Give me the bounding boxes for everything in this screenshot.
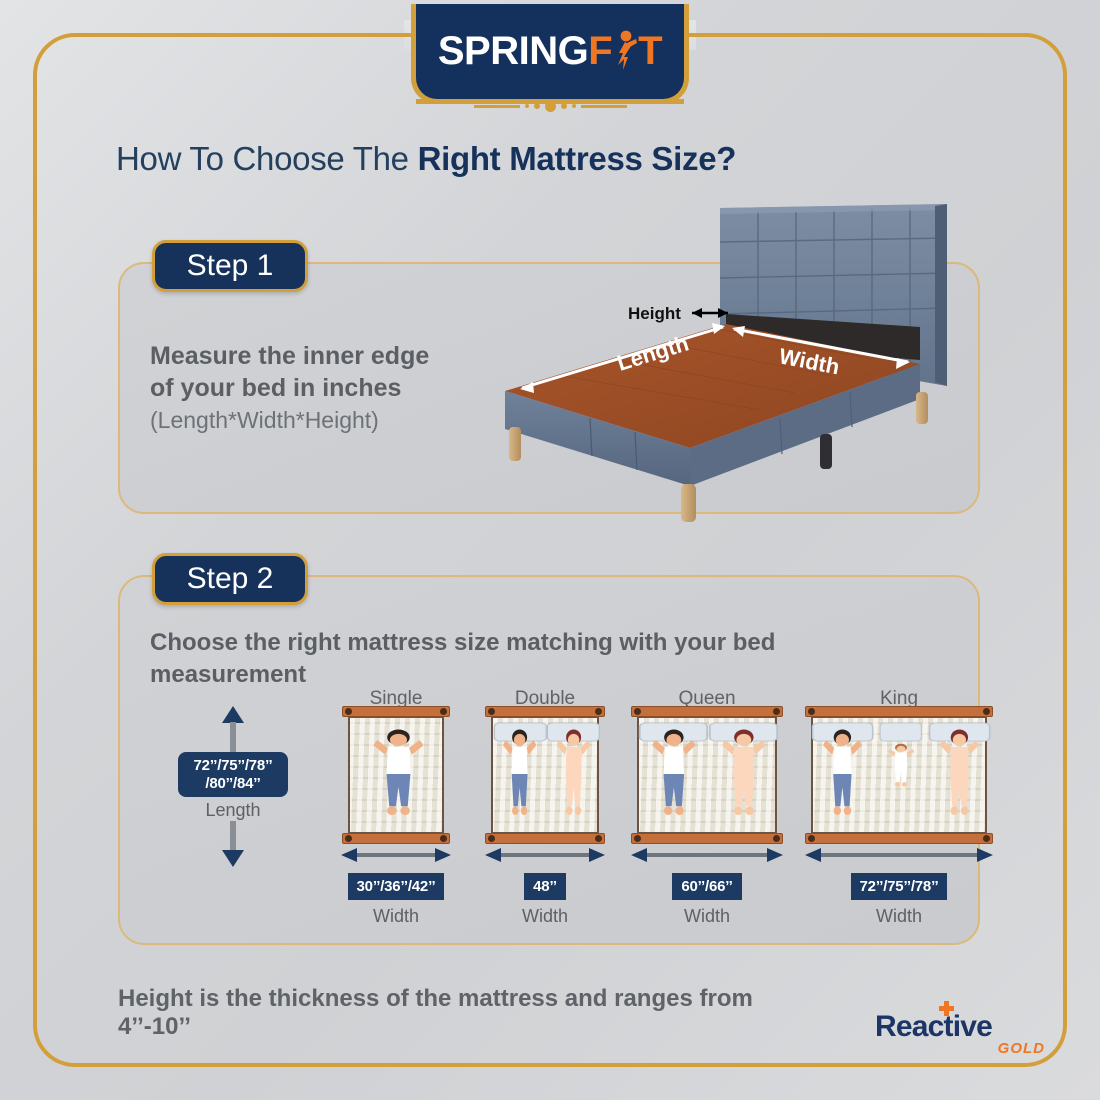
sleeper-figure-man (502, 726, 537, 822)
step-1-copy: Measure the inner edge of your bed in in… (150, 341, 480, 436)
footer-note: Height is the thickness of the mattress … (118, 985, 818, 1041)
sleeper-figure-woman (721, 726, 767, 822)
page-title-light: How To Choose The (116, 140, 418, 177)
step-1-badge: Step 1 (152, 240, 308, 292)
mattress-rail-top (342, 706, 450, 717)
sleeper-figure-man (651, 726, 697, 822)
sleeper-figure-man (372, 726, 425, 822)
size-column-king: King 72’’/75’’/78’’Width (788, 688, 1010, 927)
width-label: Width (788, 906, 1010, 927)
mattress-queen (637, 716, 777, 834)
badge-decorative-dots (460, 99, 640, 113)
mattress-rail-bottom (805, 833, 993, 844)
length-arrow-up-icon (178, 706, 288, 752)
width-value-badge-king: 72’’/75’’/78’’ (851, 873, 948, 900)
plus-cross-icon (939, 1001, 954, 1016)
mattress-single (348, 716, 444, 834)
length-axis: 72’’/75’’/78’’ /80’’/84’’ Length (178, 706, 288, 867)
mattress-size-grid: 72’’/75’’/78’’ /80’’/84’’ Length Single … (148, 688, 948, 938)
step-2-copy: Choose the right mattress size matching … (150, 627, 890, 690)
mattress-rail-top (485, 706, 605, 717)
mattress-king (811, 716, 987, 834)
sleeper-figure-woman (939, 726, 980, 822)
pillow (879, 722, 922, 742)
bed-illustration: Height Length Width (480, 196, 970, 536)
page-title-bold: Right Mattress Size? (418, 140, 737, 177)
width-value-badge-single: 30’’/36’’/42’’ (348, 873, 445, 900)
step-2-badge: Step 2 (152, 553, 308, 605)
mattress-rail-top (805, 706, 993, 717)
width-label: Width (468, 906, 622, 927)
size-column-double: Double 48’’Width (468, 688, 622, 927)
mattress-rail-bottom (631, 833, 783, 844)
mattress-double (491, 716, 599, 834)
width-arrow-icon (788, 846, 1010, 864)
width-arrow-icon (324, 846, 468, 864)
sleeper-figure-woman (556, 726, 591, 822)
sleeper-figure-baby (887, 742, 915, 790)
width-value-badge-queen: 60’’/66’’ (672, 873, 741, 900)
length-value-badge: 72’’/75’’/78’’ /80’’/84’’ (178, 752, 288, 797)
springfit-logo-badge: SPRINGFT (411, 4, 689, 104)
reactive-wordmark: Reactive (875, 1012, 992, 1042)
reactive-main-text: Reactive (875, 1010, 992, 1043)
page-title: How To Choose The Right Mattress Size? (116, 140, 976, 178)
logo-f-text: F (588, 29, 612, 74)
logo-spring-text: SPRING (438, 29, 588, 74)
step-1-line-3: (Length*Width*Height) (150, 406, 480, 436)
width-value-badge-double: 48’’ (524, 873, 566, 900)
springfit-wordmark: SPRINGFT (438, 29, 662, 75)
width-label: Width (614, 906, 800, 927)
width-arrow-icon (614, 846, 800, 864)
size-column-single: Single 30’’/36’’/42’’Width (324, 688, 468, 927)
length-axis-label: Length (178, 800, 288, 821)
logo-t-text: T (638, 29, 662, 74)
width-arrow-icon (468, 846, 622, 864)
size-column-queen: Queen 60’’/66’’Width (614, 688, 800, 927)
length-arrow-down-icon (178, 821, 288, 867)
reactive-gold-logo: Reactive GOLD (875, 1012, 1045, 1064)
step-1-line-2: of your bed in inches (150, 373, 480, 405)
mattress-rail-top (631, 706, 783, 717)
running-figure-icon (612, 29, 638, 75)
step-1-line-1: Measure the inner edge (150, 341, 480, 373)
width-label: Width (324, 906, 468, 927)
sleeper-figure-man (822, 726, 863, 822)
mattress-rail-bottom (485, 833, 605, 844)
mattress-rail-bottom (342, 833, 450, 844)
bed-height-label: Height (628, 304, 681, 323)
